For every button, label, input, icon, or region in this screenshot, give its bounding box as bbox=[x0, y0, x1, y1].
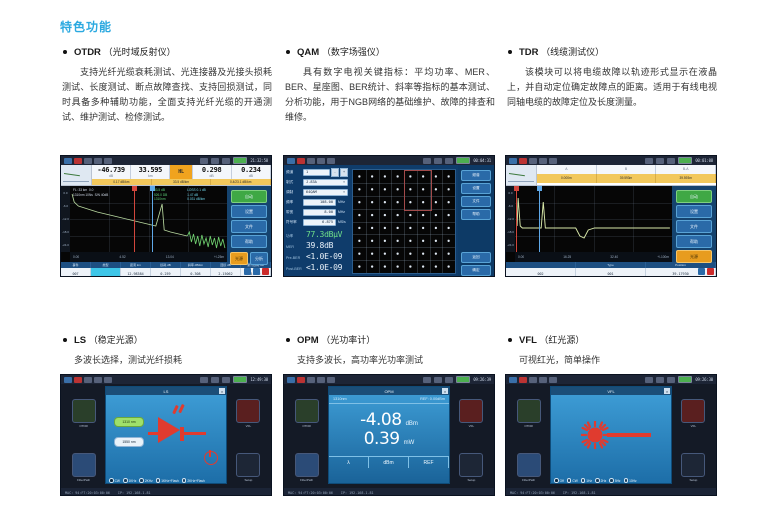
app-icon-otdr[interactable]: OTDR bbox=[65, 388, 102, 439]
app-label: OTDR bbox=[79, 424, 88, 428]
table-row[interactable]: 002 001 39.17930 bbox=[506, 268, 716, 277]
statusbar-icons bbox=[64, 158, 112, 164]
field-value[interactable]: 8.00 bbox=[303, 209, 336, 216]
td: 007 bbox=[61, 268, 91, 277]
otdr-marker-a[interactable] bbox=[134, 186, 135, 252]
opm-wavelength: 1310nm bbox=[333, 397, 347, 401]
ls-statusbar: 12:49:38 bbox=[61, 375, 271, 384]
mode-label: Off bbox=[560, 479, 564, 483]
stepper-up-icon[interactable]: + bbox=[340, 168, 348, 177]
bullet-icon bbox=[286, 50, 290, 54]
chevron-down-icon[interactable]: ▾ bbox=[343, 180, 345, 184]
device-screen-tdr[interactable]: 00:01:08 A B B-A 0.000m bbox=[505, 155, 717, 277]
sd-card-icon bbox=[84, 158, 92, 164]
opm-readout: -4.08 dBm 0.39 mW bbox=[329, 404, 449, 456]
feature-cn-name: （红光源） bbox=[539, 335, 584, 345]
app-icon-otdr[interactable]: OTDR bbox=[288, 388, 325, 439]
ls-mode-options: CW 1KHz 2KHz 1KHz+Flash 2KHz+Flash bbox=[106, 477, 226, 484]
vfl-mode-2hz[interactable]: 2Hz bbox=[595, 478, 606, 483]
usb-icon bbox=[445, 158, 453, 164]
tdr-marker-a[interactable] bbox=[516, 186, 517, 252]
signal-icon bbox=[287, 377, 295, 383]
td bbox=[91, 268, 121, 277]
qam-side-panel: 频谱 设置 文件 帮助 返回 确定 bbox=[458, 165, 494, 277]
ip-label: IP: 192.168.1.81 bbox=[563, 491, 596, 495]
qam-statusbar: 00:04:31 bbox=[284, 156, 494, 165]
statusbar-right: 12:49:38 bbox=[200, 376, 268, 383]
otdr-loss-value: -46.739 bbox=[97, 166, 124, 174]
record-icon bbox=[74, 158, 82, 164]
signal-icon bbox=[287, 158, 295, 164]
field-unit: MHz bbox=[336, 200, 348, 204]
app-icon-setup[interactable]: Setup bbox=[675, 443, 712, 494]
user-icon bbox=[434, 158, 442, 164]
tdr-btn-auto[interactable]: 自动 bbox=[676, 190, 712, 203]
feature-desc-otdr: 支持光纤光缆衰耗测试、光连接器及光接头损耗测试、长度测试、断点故障查找、支持回损… bbox=[60, 65, 272, 125]
feature-heading-otdr: OTDR （光时域反射仪） bbox=[60, 45, 272, 60]
otdr-splice-value: 0.298 bbox=[202, 166, 222, 174]
link-icon bbox=[200, 158, 208, 164]
battery-icon bbox=[456, 376, 470, 383]
usb-icon bbox=[222, 158, 230, 164]
display-icon bbox=[94, 377, 102, 383]
app-label: FiberPath bbox=[522, 478, 535, 482]
close-icon[interactable]: × bbox=[442, 388, 448, 394]
bullet-icon bbox=[508, 50, 512, 54]
opm-unit: dBm bbox=[406, 421, 418, 427]
qam-field-modulation[interactable]: 调制 64QAM ▾ bbox=[286, 188, 348, 196]
feature-abbr: QAM bbox=[297, 47, 319, 58]
opm-header-row: 1310nm REF: 0.00dBm bbox=[329, 395, 449, 404]
display-icon bbox=[539, 377, 547, 383]
ls-mode-cw[interactable]: CW bbox=[109, 478, 120, 483]
measure-value: 77.3dBμV bbox=[306, 230, 342, 239]
feature-block-otdr: OTDR （光时域反射仪） 支持光纤光缆衰耗测试、光连接器及光接头损耗测试、长度… bbox=[60, 45, 272, 125]
battery-icon bbox=[678, 376, 692, 383]
record-icon bbox=[74, 377, 82, 383]
opm-btn-unit[interactable]: dBm bbox=[369, 457, 409, 468]
page-root: 特色功能 OTDR （光时域反射仪） 支持光纤光缆衰耗测试、光连接器及光接头损耗… bbox=[0, 0, 760, 522]
tdr-thumbnail[interactable] bbox=[506, 165, 537, 185]
mode-label: 2KHz bbox=[145, 479, 153, 483]
opm-reference: REF: 0.00dBm bbox=[420, 397, 445, 401]
section-title: 特色功能 bbox=[60, 18, 112, 35]
th: B bbox=[625, 167, 627, 171]
otdr-value-cell: 0.298 dB bbox=[193, 165, 232, 179]
battery-icon bbox=[233, 376, 247, 383]
user-icon bbox=[211, 377, 219, 383]
field-unit: MS/s bbox=[336, 220, 348, 224]
qam-measure-preber: Pre-BER <1.0E-09 bbox=[286, 252, 348, 261]
tdr-marker-b[interactable] bbox=[539, 186, 540, 252]
qam-measurements: 功率 77.3dBμV MER 39.8dB Pre-BER <1.0E-09 … bbox=[286, 230, 348, 272]
dialog-title: LS bbox=[164, 389, 169, 394]
device-screen-otdr[interactable]: 21:32:58 -46.739 dB 33.595 km HL bbox=[60, 155, 272, 277]
statusbar-icons bbox=[287, 158, 335, 164]
otdr-plot[interactable]: 0.0 -6.0 -12.0 -18.0 -24.0 bbox=[61, 186, 227, 262]
y-tick: -6.0 bbox=[508, 204, 513, 208]
th: A bbox=[565, 167, 567, 171]
otdr-splice-unit: dB bbox=[210, 174, 214, 178]
tdr-plot[interactable]: 0.0 -6.0 -12.0 -18.0 -24.0 bbox=[506, 186, 672, 262]
close-icon[interactable] bbox=[707, 268, 714, 275]
brightness-icon bbox=[327, 158, 335, 164]
ls-wavelength-1550[interactable]: 1550 nm bbox=[114, 437, 144, 447]
setup-icon bbox=[459, 453, 483, 477]
mode-label: 1KHz bbox=[129, 479, 137, 483]
app-label: VFL bbox=[246, 424, 252, 428]
clock-label: 09:26:39 bbox=[473, 377, 491, 382]
signal-icon bbox=[509, 377, 517, 383]
otdr-refl-value: 0.234 bbox=[241, 166, 261, 174]
feature-heading-vfl: VFL （红光源） bbox=[505, 333, 717, 348]
vfl-mode-off[interactable]: Off bbox=[554, 478, 564, 483]
brightness-icon bbox=[104, 377, 112, 383]
ls-dialog-body: 1310 nm 1550 nm bbox=[106, 395, 226, 477]
chevron-down-icon[interactable]: ▾ bbox=[343, 190, 345, 194]
user-icon bbox=[434, 377, 442, 383]
mode-label: 1Hz bbox=[586, 479, 592, 483]
tdr-x-axis: 0.00 16.25 32.40 +/-100m bbox=[515, 252, 672, 262]
tdr-trace-area: 0.0 -6.0 -12.0 -18.0 -24.0 bbox=[506, 186, 716, 262]
bullet-icon bbox=[63, 50, 67, 54]
feature-abbr: TDR bbox=[519, 47, 539, 58]
feature-desc-tdr: 该模块可以将电缆故障以轨迹形式显示在液晶上，并自动定位确定故障点的距离。适用于有… bbox=[505, 65, 717, 110]
statusbar-right: 09:26:39 bbox=[423, 376, 491, 383]
battery-icon bbox=[456, 157, 470, 164]
vfl-mode-5hz[interactable]: 5Hz bbox=[609, 478, 620, 483]
mac-label: MAC: 94:F7:20:03:00:06 bbox=[288, 491, 333, 495]
otdr-corner-actions bbox=[244, 268, 269, 275]
table-row[interactable]: 007 12.98384 0.259 0.308 2.15062 5.882 bbox=[61, 268, 271, 277]
vfl-icon bbox=[236, 399, 260, 423]
feature-cn-name: （稳定光源） bbox=[89, 335, 143, 345]
record-icon bbox=[519, 377, 527, 383]
measure-label: 功率 bbox=[286, 234, 306, 239]
field-value[interactable]: 108.00 bbox=[303, 199, 336, 206]
qam-measure-mer: MER 39.8dB bbox=[286, 241, 348, 250]
app-label: FiberPath bbox=[77, 478, 90, 482]
close-icon[interactable]: × bbox=[219, 388, 225, 394]
feature-desc-vfl: 可视红光，简单操作 bbox=[505, 353, 717, 367]
otdr-distance-value: 33.595 bbox=[139, 166, 163, 174]
field-label: 符号率 bbox=[286, 220, 303, 225]
link-icon bbox=[423, 377, 431, 383]
link-icon bbox=[423, 158, 431, 164]
signal-icon bbox=[509, 158, 517, 164]
app-icon-vfl[interactable]: VFL bbox=[230, 388, 267, 439]
app-icon-otdr[interactable]: OTDR bbox=[510, 388, 547, 439]
feature-cn-name: （光时域反射仪） bbox=[104, 47, 176, 57]
ls-mode-2khz[interactable]: 2KHz bbox=[139, 478, 152, 483]
app-icon-setup[interactable]: Setup bbox=[453, 443, 490, 494]
feature-block-qam: QAM （数字场强仪） 具有数字电视关键指标：平均功率、MER、BER、星座图、… bbox=[283, 45, 495, 125]
field-label: 带宽 bbox=[286, 210, 303, 215]
opm-btn-wavelength[interactable]: λ bbox=[329, 457, 369, 468]
td: 001 bbox=[576, 268, 646, 277]
otdr-btn-file[interactable]: 文件 bbox=[231, 220, 267, 233]
tdr-btn-lightsource[interactable]: 光源 bbox=[676, 250, 712, 263]
app-label: VFL bbox=[469, 424, 475, 428]
qam-field-bandwidth[interactable]: 带宽 8.00 MHz bbox=[286, 208, 348, 216]
vfl-mode-options: Off CW 1Hz 2Hz 5Hz 10Hz bbox=[551, 477, 671, 484]
bullet-icon bbox=[286, 338, 290, 342]
display-icon bbox=[94, 158, 102, 164]
link-icon bbox=[645, 377, 653, 383]
clock-label: 00:01:08 bbox=[695, 158, 713, 163]
opm-btn-ref[interactable]: REF bbox=[409, 457, 449, 468]
device-screen-qam[interactable]: 00:04:31 频道 1 - + 制式 J.83A ▾ bbox=[283, 155, 495, 277]
user-icon bbox=[656, 377, 664, 383]
td: 0.259 bbox=[151, 268, 181, 277]
usb-icon bbox=[445, 377, 453, 383]
tdr-event-table: Type Position 002 001 39.17930 bbox=[506, 262, 716, 277]
info-icon[interactable] bbox=[244, 268, 251, 275]
otdr-trace-area: 0.0 -6.0 -12.0 -18.0 -24.0 bbox=[61, 186, 271, 262]
otdr-btn-lightsource[interactable]: 光源 bbox=[230, 252, 248, 265]
opm-unit: mW bbox=[404, 440, 415, 446]
close-icon[interactable] bbox=[262, 268, 269, 275]
qam-btn-file[interactable]: 文件 bbox=[461, 196, 491, 207]
usb-icon bbox=[222, 377, 230, 383]
otdr-note-cyan: LOSS 0.1 dB 1.47 dB 0.031 dB/km bbox=[187, 188, 206, 202]
td: 002 bbox=[506, 268, 576, 277]
feature-block-vfl: VFL （红光源） 可视红光，简单操作 bbox=[505, 333, 717, 367]
feature-heading-ls: LS （稳定光源） bbox=[60, 333, 272, 348]
vfl-desktop: OTDR QAM TDR LS VFL FiberPath DMM Tools … bbox=[506, 384, 716, 496]
x-tick: +/-25m bbox=[214, 255, 224, 259]
sd-card-icon bbox=[529, 158, 537, 164]
tdr-header-cell: A bbox=[537, 165, 597, 174]
ls-mode-2khz-flash[interactable]: 2KHz+Flash bbox=[182, 478, 205, 483]
otdr-statusbar: 21:32:58 bbox=[61, 156, 271, 165]
field-value[interactable]: 1 bbox=[303, 169, 330, 176]
app-icon-fiberpath[interactable]: FiberPath bbox=[288, 443, 325, 494]
app-label: OTDR bbox=[524, 424, 533, 428]
battery-icon bbox=[678, 157, 692, 164]
device-screen-opm[interactable]: 09:26:39 OTDR QAM TDR LS VFL FiberPath D… bbox=[283, 374, 495, 496]
y-tick: -18.0 bbox=[507, 230, 514, 234]
qam-constellation-diagram[interactable] bbox=[352, 169, 456, 274]
mode-label: 5Hz bbox=[615, 479, 621, 483]
x-tick: 16.25 bbox=[563, 255, 571, 259]
otdr-value-table: -46.739 dB 33.595 km HL 0.298 dB bbox=[92, 165, 271, 185]
otdr-summary-bar: -46.739 dB 33.595 km HL 0.298 dB bbox=[61, 165, 271, 186]
y-tick: -12.0 bbox=[507, 217, 514, 221]
clock-label: 21:32:58 bbox=[250, 158, 268, 163]
measure-value: 39.8dB bbox=[306, 241, 333, 250]
vfl-mode-cw[interactable]: CW bbox=[567, 478, 578, 483]
vfl-mode-10hz[interactable]: 10Hz bbox=[624, 478, 637, 483]
ip-label: IP: 192.168.1.81 bbox=[118, 491, 151, 495]
ls-wavelength-1310[interactable]: 1310 nm bbox=[114, 417, 144, 427]
statusbar-right: 00:01:08 bbox=[645, 157, 713, 164]
measure-value: <1.0E-09 bbox=[306, 263, 342, 272]
field-value[interactable]: J.83A ▾ bbox=[303, 179, 348, 186]
mode-label: 2KHz+Flash bbox=[187, 479, 204, 483]
statusbar-icons bbox=[64, 377, 112, 383]
setup-icon bbox=[681, 453, 705, 477]
statusbar-right: 00:04:31 bbox=[423, 157, 491, 164]
statusbar-icons bbox=[509, 158, 557, 164]
close-icon[interactable]: × bbox=[664, 388, 670, 394]
dialog-title: VFL bbox=[607, 389, 614, 394]
opm-footer-bar: MAC: 94:F7:20:03:00:06 IP: 192.168.1.81 bbox=[284, 488, 494, 496]
stepper-down-icon[interactable]: - bbox=[331, 168, 339, 177]
otdr-thumbnail[interactable] bbox=[61, 165, 92, 185]
otdr-icon bbox=[295, 399, 319, 423]
otdr-btn-help[interactable]: 帮助 bbox=[231, 235, 267, 248]
mode-label: CW bbox=[115, 479, 120, 483]
field-label: 调制 bbox=[286, 190, 303, 195]
power-icon[interactable] bbox=[204, 451, 218, 465]
td: 12.98384 bbox=[121, 268, 151, 277]
record-icon bbox=[519, 158, 527, 164]
qam-btn-settings[interactable]: 设置 bbox=[461, 183, 491, 194]
qam-field-symbolrate[interactable]: 符号率 6.875 MS/s bbox=[286, 218, 348, 226]
qam-field-frequency[interactable]: 频率 108.00 MHz bbox=[286, 198, 348, 206]
field-value[interactable]: 6.875 bbox=[303, 219, 336, 226]
field-label: 制式 bbox=[286, 180, 303, 185]
mode-label: 2Hz bbox=[601, 479, 607, 483]
vfl-icon bbox=[681, 399, 705, 423]
field-value[interactable]: 64QAM ▾ bbox=[303, 189, 348, 196]
tdr-values-row: 0.000m 39.593m 39.593m bbox=[537, 174, 716, 183]
tdr-btn-file[interactable]: 文件 bbox=[676, 220, 712, 233]
tdr-summary-bar: A B B-A 0.000m 39.593m 39.593m bbox=[506, 165, 716, 186]
tdr-value-b: 39.593m bbox=[597, 174, 657, 183]
x-tick: 13.04 bbox=[166, 255, 174, 259]
opm-reading-dbm: -4.08 dBm bbox=[360, 412, 418, 429]
x-tick: +/-100m bbox=[657, 255, 669, 259]
field-unit: MHz bbox=[336, 210, 348, 214]
feature-cn-name: （光功率计） bbox=[321, 335, 375, 345]
x-tick: 0.00 bbox=[518, 255, 524, 259]
vfl-dialog-body bbox=[551, 395, 671, 477]
display-icon bbox=[317, 158, 325, 164]
brightness-icon bbox=[327, 377, 335, 383]
app-icon-setup[interactable]: Setup bbox=[230, 443, 267, 494]
feature-desc-ls: 多波长选择，测试光纤损耗 bbox=[60, 353, 272, 367]
record-icon bbox=[297, 158, 305, 164]
y-tick: -12.0 bbox=[62, 217, 69, 221]
field-label: 频道 bbox=[286, 170, 303, 175]
otdr-event-badge: HL bbox=[170, 165, 192, 179]
qam-btn-help[interactable]: 帮助 bbox=[461, 209, 491, 220]
app-label: FiberPath bbox=[300, 478, 313, 482]
otdr-sub-cell: 0.17 dB/km bbox=[92, 179, 152, 185]
fiberpath-icon bbox=[295, 453, 319, 477]
x-tick: 0.00 bbox=[73, 255, 79, 259]
otdr-value-cell: 0.234 dB bbox=[232, 165, 271, 179]
otdr-btn-analyze[interactable]: 分析 bbox=[250, 252, 268, 265]
bullet-icon bbox=[63, 338, 67, 342]
tdr-btn-help[interactable]: 帮助 bbox=[676, 235, 712, 248]
feature-desc-qam: 具有数字电视关键指标：平均功率、MER、BER、星座图、BER统计、斜率等指标的… bbox=[283, 65, 495, 125]
fiberpath-icon bbox=[72, 453, 96, 477]
y-tick: -6.0 bbox=[63, 204, 68, 208]
app-icon-fiberpath[interactable]: FiberPath bbox=[510, 443, 547, 494]
feature-abbr: OPM bbox=[297, 335, 319, 346]
measure-value: <1.0E-09 bbox=[306, 252, 342, 261]
vfl-dialog[interactable]: VFL × bbox=[550, 386, 672, 484]
opm-statusbar: 09:26:39 bbox=[284, 375, 494, 384]
signal-icon bbox=[64, 158, 72, 164]
qam-btn-confirm[interactable]: 确定 bbox=[461, 265, 491, 276]
clock-label: 12:49:38 bbox=[250, 377, 268, 382]
otdr-note-topleft: FL: 33 km 0.0 1310nm 10Ns S/N 40dB bbox=[73, 188, 108, 197]
ls-mode-1khz-flash[interactable]: 1KHz+Flash bbox=[156, 478, 179, 483]
qam-field-channel[interactable]: 频道 1 - + bbox=[286, 168, 348, 176]
battery-icon bbox=[233, 157, 247, 164]
app-icon-vfl[interactable]: VFL bbox=[453, 388, 490, 439]
y-tick: -24.0 bbox=[62, 243, 69, 247]
sd-card-icon bbox=[529, 377, 537, 383]
clock-label: 09:26:30 bbox=[695, 377, 713, 382]
record-icon bbox=[297, 377, 305, 383]
otdr-btn-auto[interactable]: 自动 bbox=[231, 190, 267, 203]
tdr-y-axis: 0.0 -6.0 -12.0 -18.0 -24.0 bbox=[506, 186, 515, 252]
minimize-icon[interactable] bbox=[253, 268, 260, 275]
otdr-icon bbox=[517, 399, 541, 423]
statusbar-right: 09:26:30 bbox=[645, 376, 713, 383]
vfl-dialog-titlebar: VFL × bbox=[551, 387, 671, 395]
laser-burst-icon bbox=[581, 419, 651, 453]
minimize-icon[interactable] bbox=[698, 268, 705, 275]
otdr-btn-settings[interactable]: 设置 bbox=[231, 205, 267, 218]
opm-value: -4.08 bbox=[360, 412, 402, 429]
opm-dialog-body: 1310nm REF: 0.00dBm -4.08 dBm 0.39 mW bbox=[329, 395, 449, 477]
ls-mode-1khz[interactable]: 1KHz bbox=[123, 478, 136, 483]
measure-label: Post-BER bbox=[286, 267, 306, 271]
qam-btn-back[interactable]: 返回 bbox=[461, 252, 491, 263]
qam-field-standard[interactable]: 制式 J.83A ▾ bbox=[286, 178, 348, 186]
x-tick: 4.52 bbox=[119, 255, 125, 259]
opm-button-row: λ dBm REF bbox=[329, 456, 449, 468]
measure-label: Pre-BER bbox=[286, 256, 306, 260]
opm-reading-mw: 0.39 mW bbox=[364, 431, 415, 448]
otdr-subvalues: 0.17 dB/km 33.5 dB/km 0.4/23.1 dB/km bbox=[92, 179, 271, 185]
select-value: J.83A bbox=[306, 180, 317, 184]
app-icon-fiberpath[interactable]: FiberPath bbox=[65, 443, 102, 494]
y-tick: -18.0 bbox=[62, 230, 69, 234]
otdr-event-value: HL bbox=[178, 169, 183, 175]
device-screen-vfl[interactable]: 09:26:30 OTDR QAM TDR LS VFL FiberPath D… bbox=[505, 374, 717, 496]
ip-label: IP: 192.168.1.81 bbox=[341, 491, 374, 495]
usb-icon bbox=[667, 158, 675, 164]
ls-desktop: OTDR QAM TDR LS VFL bbox=[61, 384, 271, 496]
device-screen-ls[interactable]: 12:49:38 OTDR QAM TDR LS bbox=[60, 374, 272, 496]
ls-dialog[interactable]: LS × 1310 nm 1550 nm bbox=[105, 386, 227, 484]
qam-form-panel: 频道 1 - + 制式 J.83A ▾ 调制 64QAM ▾ bbox=[284, 165, 350, 277]
opm-dialog[interactable]: OPM × 1310nm REF: 0.00dBm -4.08 dBm bbox=[328, 386, 450, 484]
brightness-icon bbox=[104, 158, 112, 164]
qam-btn-spectrum[interactable]: 频谱 bbox=[461, 170, 491, 181]
feature-desc-opm: 支持多波长，高功率光功率测试 bbox=[283, 353, 495, 367]
constellation-points bbox=[353, 170, 455, 273]
tdr-btn-settings[interactable]: 设置 bbox=[676, 205, 712, 218]
tdr-header-cell: B-A bbox=[656, 165, 716, 174]
brightness-icon bbox=[549, 158, 557, 164]
td: 2.15062 bbox=[211, 268, 241, 277]
app-icon-vfl[interactable]: VFL bbox=[675, 388, 712, 439]
opm-dialog-titlebar: OPM × bbox=[329, 387, 449, 395]
clock-label: 00:04:31 bbox=[473, 158, 491, 163]
vfl-mode-1hz[interactable]: 1Hz bbox=[581, 478, 592, 483]
feature-abbr: OTDR bbox=[74, 47, 101, 58]
otdr-icon bbox=[72, 399, 96, 423]
otdr-note-green: 33.5 dB 526.0 DB 1310nm bbox=[154, 188, 167, 202]
